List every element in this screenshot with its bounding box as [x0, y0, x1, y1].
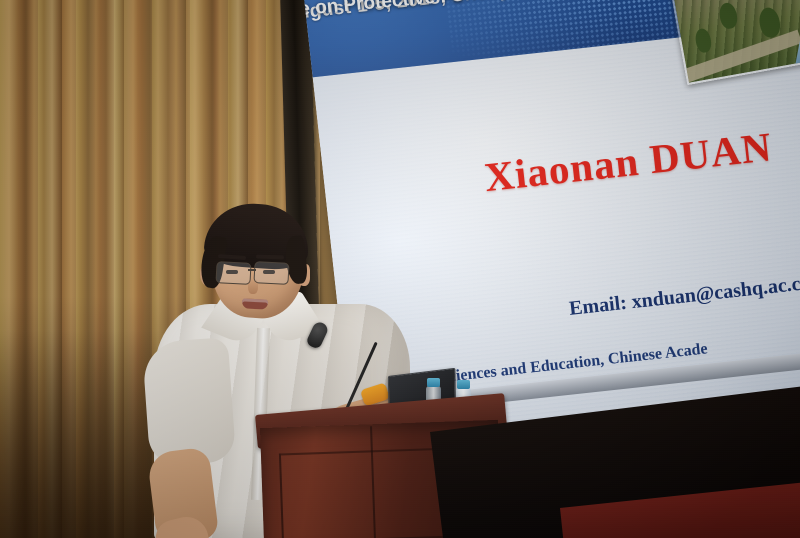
water-bottle-cap [457, 380, 470, 389]
speaker-nose [248, 278, 258, 294]
eyeglasses-lens-left [215, 261, 251, 285]
eyeglasses-bridge [248, 269, 256, 271]
speaker-mouth [242, 298, 268, 309]
eyeglasses-lens-right [253, 261, 289, 285]
speaker-sleeve-left [142, 337, 236, 467]
conference-photo: ational Conference on Protective Fo 018 … [0, 0, 800, 538]
water-bottle-cap [427, 378, 440, 387]
